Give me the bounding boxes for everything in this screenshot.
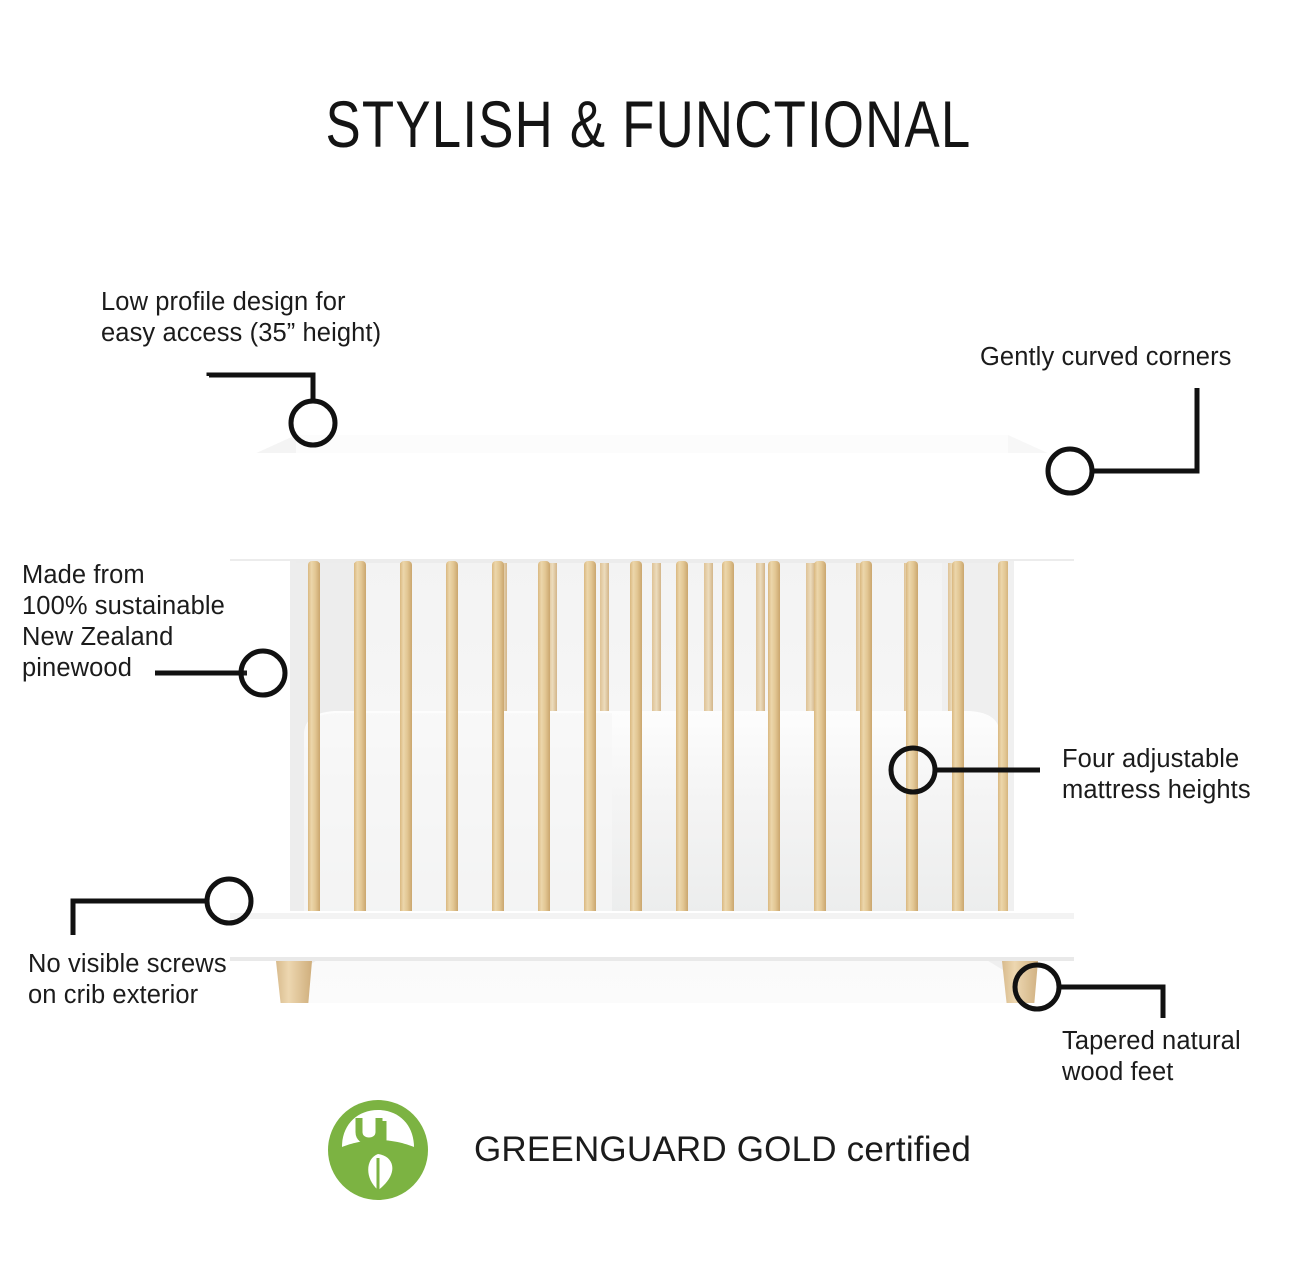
leader-line-curved-corners [1093,388,1197,471]
annotation-curved-corners: Gently curved corners [980,342,1290,373]
page-title: STYLISH & FUNCTIONAL [130,88,1168,160]
certification-label: GREENGUARD GOLD certified [474,1130,971,1170]
certification-row: GREENGUARD GOLD certified [0,1098,1297,1202]
crib-top-rail [230,435,1074,563]
crib-leg-right [1002,961,1038,1003]
leader-line-no-screws [73,901,207,935]
annotation-mattress-heights: Four adjustable mattress heights [1062,744,1297,806]
annotation-low-profile: Low profile design for easy access (35” … [101,287,481,349]
leader-line-low-profile [209,375,313,400]
annotation-no-screws: No visible screws on crib exterior [28,949,298,1011]
product-feature-infographic: STYLISH & FUNCTIONAL [0,0,1297,1279]
ul-greenguard-leaf-icon [326,1098,430,1202]
annotation-tapered-feet: Tapered natural wood feet [1062,1026,1292,1088]
crib-base-rail [230,911,1074,961]
crib-product-illustration [212,413,1092,1003]
annotation-pinewood: Made from 100% sustainable New Zealand p… [22,560,272,684]
